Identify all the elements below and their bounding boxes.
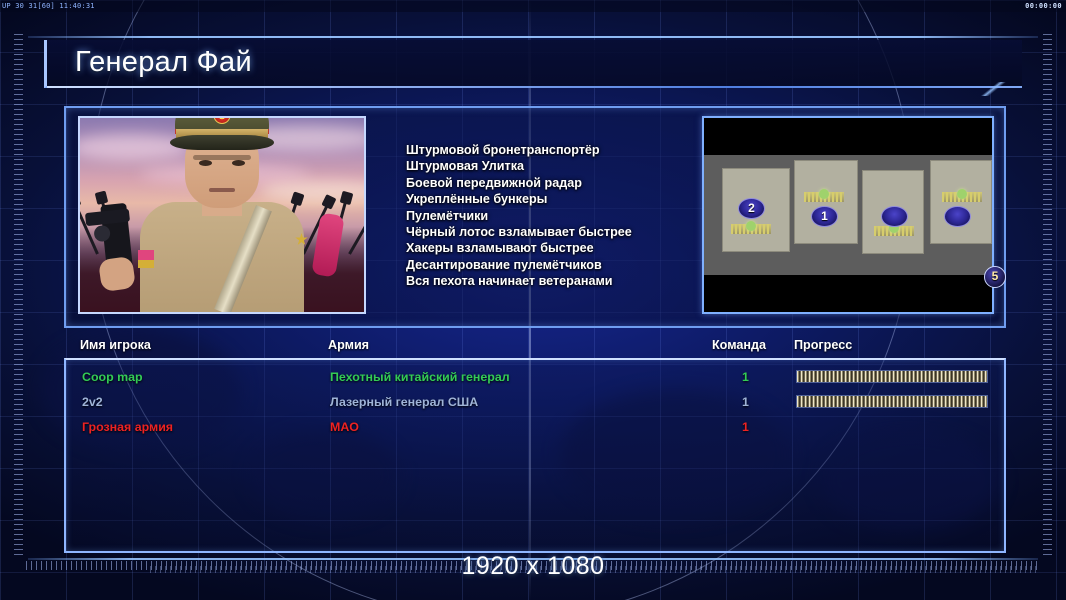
ability-item: Вся пехота начинает ветеранами: [406, 273, 702, 289]
player-name: Coop map: [82, 366, 143, 388]
system-monitor-text: UP 30 31[60] 11:40:31: [2, 0, 95, 12]
map-supply-icon: [942, 192, 982, 202]
player-team: 1: [742, 391, 749, 413]
player-army: Лазерный генерал США: [330, 391, 478, 413]
portrait-eye-left: [199, 160, 212, 166]
table-row[interactable]: 2v2 Лазерный генерал США 1: [66, 391, 1004, 413]
ability-item: Укреплённые бункеры: [406, 191, 702, 207]
ability-item: Пулемётчики: [406, 208, 702, 224]
map-plot: [930, 160, 992, 244]
player-team: 1: [742, 416, 749, 438]
ability-item: Штурмовая Улитка: [406, 158, 702, 174]
map-start-position-2[interactable]: 2: [738, 198, 765, 219]
system-status-bar: UP 30 31[60] 11:40:31 00:00:00: [0, 0, 1066, 12]
portrait-eye-right: [232, 160, 245, 166]
player-name: Грозная армия: [82, 416, 173, 438]
map-start-position-1[interactable]: 1: [811, 206, 838, 227]
player-progress-fill: [797, 371, 987, 382]
map-preview-image: 2 1: [704, 118, 992, 312]
ability-item: Боевой передвижной радар: [406, 175, 702, 191]
column-header-player-name: Имя игрока: [80, 338, 151, 352]
portrait-brow: [193, 155, 251, 160]
portrait-cap-brim: [170, 135, 274, 150]
map-supply-icon: [874, 226, 914, 236]
column-header-army: Армия: [328, 338, 369, 352]
left-ruler-decoration: [14, 34, 23, 558]
player-army: Пехотный китайский генерал: [330, 366, 510, 388]
table-row[interactable]: Coop map Пехотный китайский генерал 1: [66, 366, 1004, 388]
player-army: MAO: [330, 416, 359, 438]
player-progress-fill: [797, 396, 987, 407]
map-preview[interactable]: 2 1 5: [702, 116, 994, 314]
ability-item: Штурмовой бронетранспортёр: [406, 142, 702, 158]
portrait-mouth: [209, 188, 235, 192]
game-timer: 00:00:00: [1025, 0, 1062, 12]
resolution-label: 1920 x 1080: [0, 552, 1066, 581]
map-start-position-4[interactable]: [944, 206, 971, 227]
player-table-header: Имя игрока Армия Команда Прогресс: [64, 338, 1006, 358]
title-accent-decoration: [953, 82, 1034, 96]
ability-item: Чёрный лотос взламывает быстрее: [406, 224, 702, 240]
player-team: 1: [742, 366, 749, 388]
map-supply-icon: [804, 192, 844, 202]
player-progress-bar: [796, 370, 988, 383]
player-table: Coop map Пехотный китайский генерал 1 2v…: [64, 358, 1006, 553]
general-info-panel: Штурмовой бронетранспортёр Штурмовая Ули…: [64, 106, 1006, 328]
player-progress-bar: [796, 395, 988, 408]
right-ruler-decoration: [1043, 34, 1052, 558]
column-header-team: Команда: [712, 338, 766, 352]
map-supply-icon: [731, 224, 771, 234]
frame-top-line: [28, 36, 1038, 38]
map-player-count-badge: 5: [984, 266, 1006, 288]
ability-item: Хакеры взламывают быстрее: [406, 240, 702, 256]
map-plot: [794, 160, 858, 244]
general-abilities-list: Штурмовой бронетранспортёр Штурмовая Ули…: [406, 142, 702, 290]
table-row[interactable]: Грозная армия MAO 1: [66, 416, 1004, 438]
general-portrait: [78, 116, 366, 314]
title-panel: Генерал Фай: [44, 40, 1022, 88]
page-title: Генерал Фай: [75, 46, 252, 79]
player-name: 2v2: [82, 391, 103, 413]
portrait-medal: [138, 250, 154, 268]
map-start-position-3[interactable]: [881, 206, 908, 227]
column-header-progress: Прогресс: [794, 338, 852, 352]
ability-item: Десантирование пулемётчиков: [406, 257, 702, 273]
game-screen: UP 30 31[60] 11:40:31 00:00:00 Генерал Ф…: [0, 0, 1066, 600]
